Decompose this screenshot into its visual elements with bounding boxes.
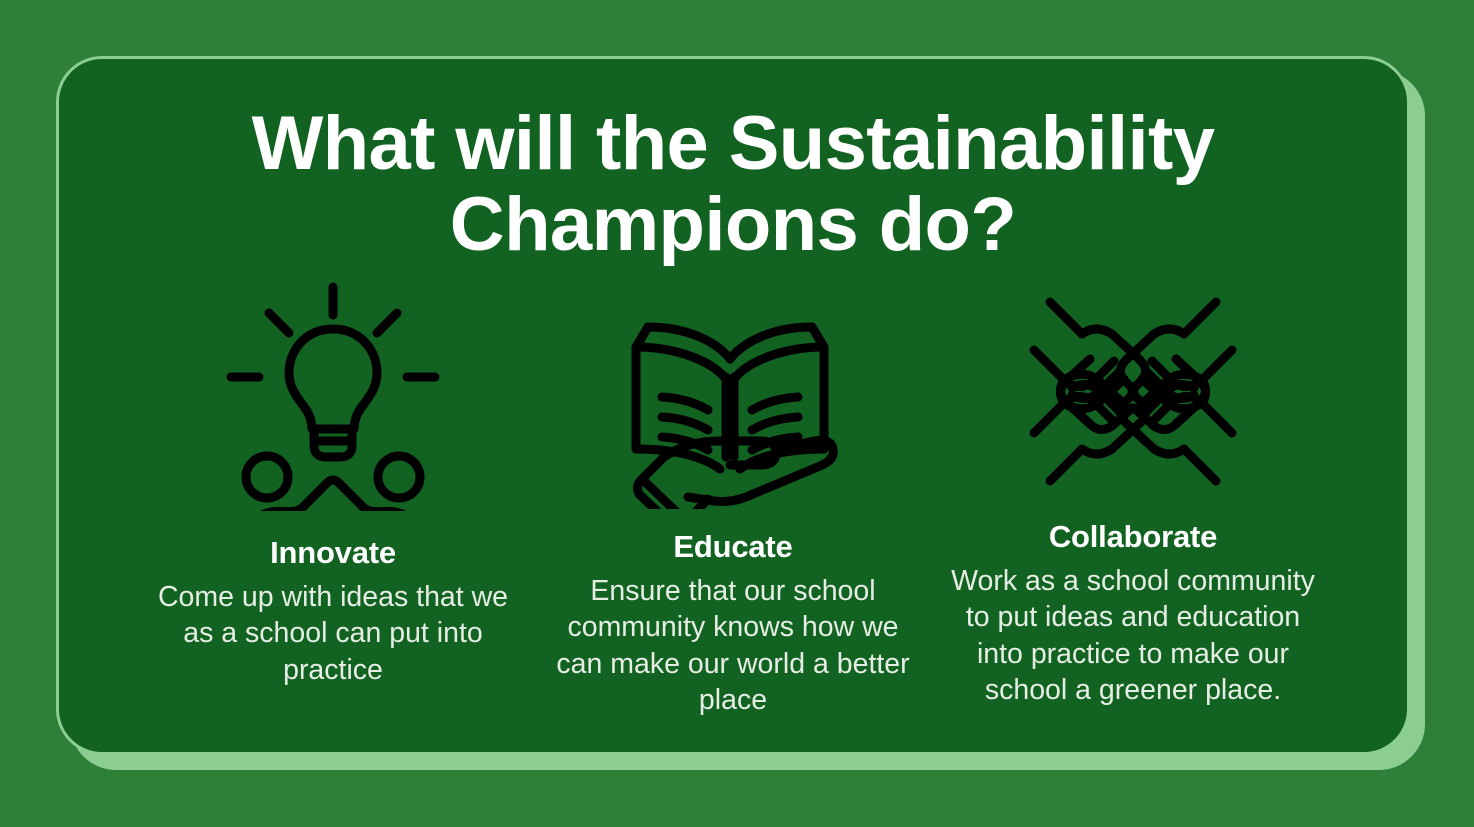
- slide: What will the Sustainability Champions d…: [0, 0, 1474, 827]
- column-innovate: Innovate Come up with ideas that we as a…: [133, 281, 533, 688]
- column-body: Come up with ideas that we as a school c…: [147, 579, 519, 688]
- interlocking-hands-icon: [1020, 284, 1246, 499]
- content-card: What will the Sustainability Champions d…: [56, 56, 1410, 755]
- columns-container: Innovate Come up with ideas that we as a…: [59, 281, 1407, 719]
- book-in-hand-icon: [626, 299, 841, 509]
- column-educate: Educate Ensure that our school community…: [533, 281, 933, 719]
- column-heading: Educate: [673, 529, 792, 565]
- lightbulb-people-icon: [221, 281, 445, 511]
- column-body: Ensure that our school community knows h…: [553, 573, 913, 719]
- column-body: Work as a school community to put ideas …: [947, 563, 1319, 709]
- column-heading: Innovate: [270, 535, 396, 571]
- column-collaborate: Collaborate Work as a school community t…: [933, 281, 1333, 709]
- column-heading: Collaborate: [1049, 519, 1217, 555]
- page-title: What will the Sustainability Champions d…: [59, 103, 1407, 266]
